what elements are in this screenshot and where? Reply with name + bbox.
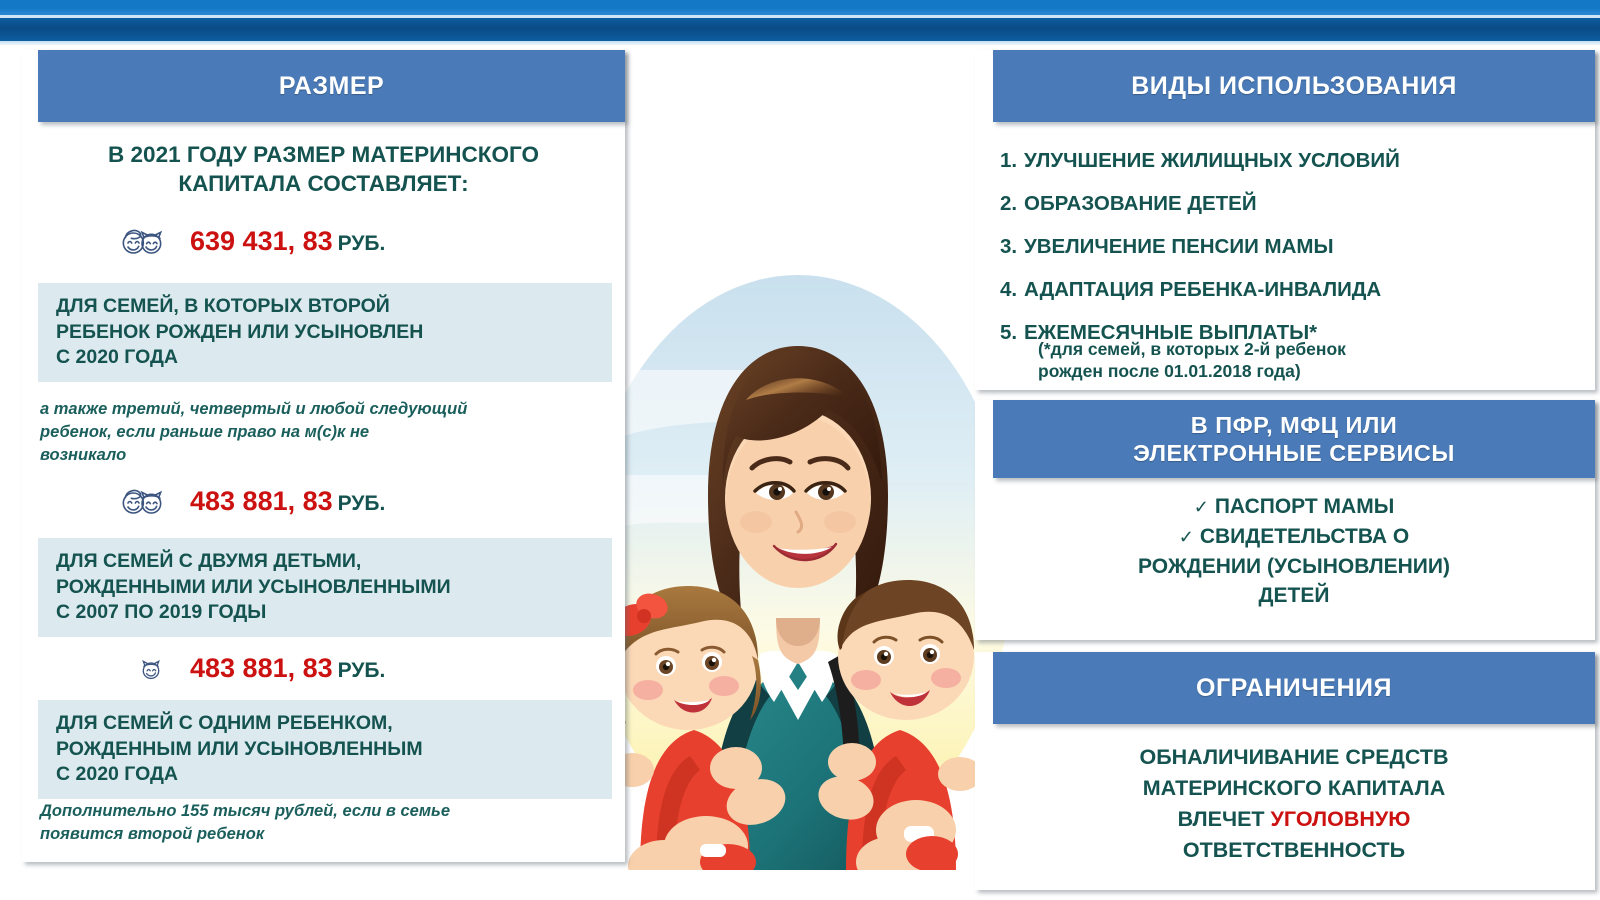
documents-header-line-1: В ПФР, МФЦ ИЛИ [1191,411,1398,439]
documents-item-2: ✓СВИДЕТЕЛЬСТВА О [993,522,1595,552]
top-bar-foot-gradient [0,41,1600,46]
limits-line-4: ОТВЕТСТВЕННОСТЬ [993,835,1595,866]
note-2-line-1: Дополнительно 155 тысяч рублей, если в с… [40,800,620,823]
limits-panel-header-label: ОГРАНИЧЕНИЯ [1196,674,1392,703]
size-panel-title: В 2021 ГОДУ РАЗМЕР МАТЕРИНСКОГО КАПИТАЛА… [22,140,625,198]
top-decorative-bar [0,0,1600,46]
band-1-line-3: С 2020 ГОДА [56,345,612,371]
use-list-item-2: 2. ОБРАЗОВАНИЕ ДЕТЕЙ [1000,191,1595,216]
mother-with-two-babies-illustration [560,250,1030,870]
eligibility-band-3: ДЛЯ СЕМЕЙ С ОДНИМ РЕБЕНКОМ, РОЖДЕННЫМ ИЛ… [38,700,612,799]
note-2-line-2: появится второй ребенок [40,823,620,846]
amount-value-1: 639 431, 83РУБ. [190,226,385,257]
use-list-item-3: 3. УВЕЛИЧЕНИЕ ПЕНСИИ МАМЫ [1000,234,1595,259]
documents-panel-header: В ПФР, МФЦ ИЛИ ЭЛЕКТРОННЫЕ СЕРВИСЫ [993,400,1595,478]
band-1-line-1: ДЛЯ СЕМЕЙ, В КОТОРЫХ ВТОРОЙ [56,294,612,320]
uses-panel-header: ВИДЫ ИСПОЛЬЗОВАНИЯ [993,50,1595,122]
documents-item-1-label: ПАСПОРТ МАМЫ [1215,495,1394,518]
documents-list: ✓ПАСПОРТ МАМЫ ✓СВИДЕТЕЛЬСТВА О РОЖДЕНИИ … [993,492,1595,610]
amount-row-3: 483 881, 83РУБ. [22,640,625,696]
documents-item-1: ✓ПАСПОРТ МАМЫ [993,492,1595,522]
amount-currency-2: РУБ. [338,492,386,515]
uses-panel-header-label: ВИДЫ ИСПОЛЬЗОВАНИЯ [1131,72,1457,101]
limits-body: ОБНАЛИЧИВАНИЕ СРЕДСТВ МАТЕРИНСКОГО КАПИТ… [993,742,1595,866]
size-title-line-1: В 2021 ГОДУ РАЗМЕР МАТЕРИНСКОГО [22,140,625,169]
use-item-4-label: АДАПТАЦИЯ РЕБЕНКА-ИНВАЛИДА [1024,277,1381,302]
use-item-1-number: 1. [1000,148,1024,173]
documents-item-2-line-1: СВИДЕТЕЛЬСТВА О [1200,525,1409,548]
band-3-line-1: ДЛЯ СЕМЕЙ С ОДНИМ РЕБЕНКОМ, [56,711,612,737]
documents-item-2-line-3: ДЕТЕЙ [993,581,1595,610]
use-item-4-number: 4. [1000,277,1024,302]
uses-footnote-line-1: (*для семей, в которых 2-й ребенок [1038,338,1598,360]
size-panel-header-label: РАЗМЕР [279,72,384,101]
amount-row-1: 639 431, 83РУБ. [22,213,625,269]
band-2-line-3: С 2007 ПО 2019 ГОДЫ [56,600,612,626]
uses-list: 1. УЛУЧШЕНИЕ ЖИЛИЩНЫХ УСЛОВИЙ 2. ОБРАЗОВ… [1000,148,1595,363]
amount-row-2: 483 881, 83РУБ. [22,473,625,529]
use-list-item-1: 1. УЛУЧШЕНИЕ ЖИЛИЩНЫХ УСЛОВИЙ [1000,148,1595,173]
use-item-2-number: 2. [1000,191,1024,216]
size-panel-header: РАЗМЕР [38,50,625,122]
note-1-line-3: возникало [40,444,620,467]
amount-currency-1: РУБ. [338,232,386,255]
use-item-2-label: ОБРАЗОВАНИЕ ДЕТЕЙ [1024,191,1257,216]
eligibility-note-1: а также третий, четвертый и любой следую… [40,398,620,467]
amount-currency-3: РУБ. [338,659,386,682]
eligibility-band-1: ДЛЯ СЕМЕЙ, В КОТОРЫХ ВТОРОЙ РЕБЕНОК РОЖД… [38,283,612,382]
documents-header-line-2: ЭЛЕКТРОННЫЕ СЕРВИСЫ [1133,439,1455,467]
check-icon: ✓ [1194,497,1209,517]
limits-line-3-prefix: ВЛЕЧЕТ [1178,807,1271,831]
note-1-line-2: ребенок, если раньше право на м(с)к не [40,421,620,444]
check-icon: ✓ [1179,527,1194,547]
two-kids-faces-icon [22,218,162,264]
band-3-line-2: РОЖДЕННЫМ ИЛИ УСЫНОВЛЕННЫМ [56,737,612,763]
amount-value-2: 483 881, 83РУБ. [190,486,385,517]
amount-value-3: 483 881, 83РУБ. [190,653,385,684]
girl-face-icon [22,645,162,691]
limits-line-1: ОБНАЛИЧИВАНИЕ СРЕДСТВ [993,742,1595,773]
use-item-3-number: 3. [1000,234,1024,259]
top-bar-dark-band [0,18,1600,41]
eligibility-band-2: ДЛЯ СЕМЕЙ С ДВУМЯ ДЕТЬМИ, РОЖДЕННЫМИ ИЛИ… [38,538,612,637]
band-3-line-3: С 2020 ГОДА [56,762,612,788]
use-item-3-label: УВЕЛИЧЕНИЕ ПЕНСИИ МАМЫ [1024,234,1334,259]
eligibility-note-2: Дополнительно 155 тысяч рублей, если в с… [40,800,620,846]
uses-footnote: (*для семей, в которых 2-й ребенок рожде… [1038,338,1598,382]
size-title-line-2: КАПИТАЛА СОСТАВЛЯЕТ: [22,169,625,198]
top-bar-light-band [0,0,1600,15]
band-2-line-2: РОЖДЕННЫМИ ИЛИ УСЫНОВЛЕННЫМИ [56,575,612,601]
limits-line-2: МАТЕРИНСКОГО КАПИТАЛА [993,773,1595,804]
limits-panel-header: ОГРАНИЧЕНИЯ [993,652,1595,724]
two-kids-faces-icon [22,478,162,524]
note-1-line-1: а также третий, четвертый и любой следую… [40,398,620,421]
band-1-line-2: РЕБЕНОК РОЖДЕН ИЛИ УСЫНОВЛЕН [56,320,612,346]
limits-line-3-highlight: УГОЛОВНУЮ [1271,807,1411,831]
band-2-line-1: ДЛЯ СЕМЕЙ С ДВУМЯ ДЕТЬМИ, [56,549,612,575]
uses-footnote-line-2: рожден после 01.01.2018 года) [1038,360,1598,382]
use-item-1-label: УЛУЧШЕНИЕ ЖИЛИЩНЫХ УСЛОВИЙ [1024,148,1400,173]
use-item-5-number: 5. [1000,320,1024,345]
limits-line-3: ВЛЕЧЕТ УГОЛОВНУЮ [993,804,1595,835]
use-list-item-4: 4. АДАПТАЦИЯ РЕБЕНКА-ИНВАЛИДА [1000,277,1595,302]
documents-item-2-line-2: РОЖДЕНИИ (УСЫНОВЛЕНИИ) [993,552,1595,581]
